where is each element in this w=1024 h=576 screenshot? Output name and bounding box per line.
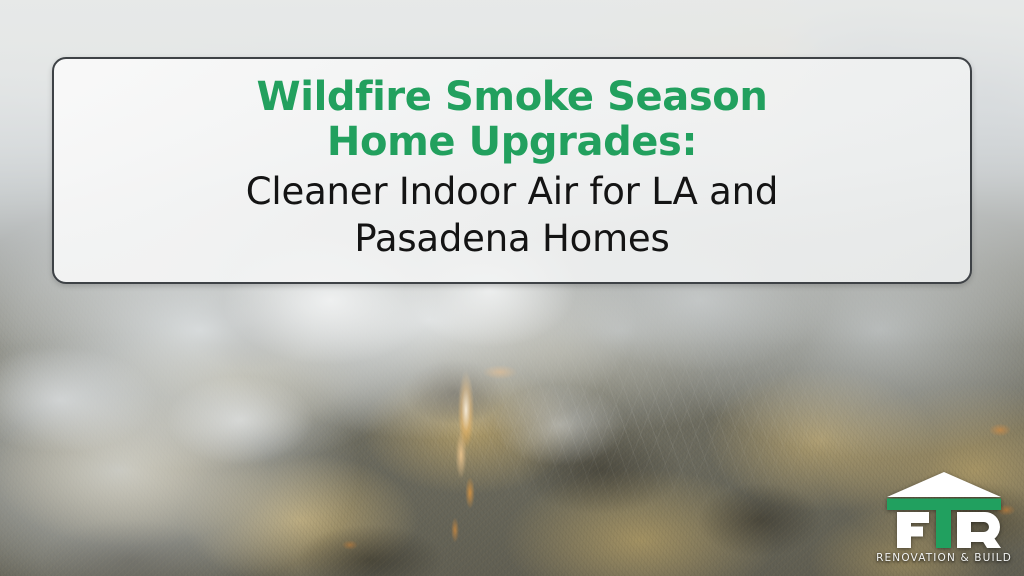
logo-letter-t-stem bbox=[936, 510, 951, 548]
page-subtitle-line-1: Cleaner Indoor Air for LA and bbox=[246, 169, 778, 215]
banner-image: Wildfire Smoke Season Home Upgrades: Cle… bbox=[0, 0, 1024, 576]
logo-tagline: RENOVATION & BUILD bbox=[876, 552, 1012, 564]
page-title: Wildfire Smoke Season Home Upgrades: bbox=[257, 75, 768, 165]
title-card: Wildfire Smoke Season Home Upgrades: Cle… bbox=[52, 57, 972, 284]
page-title-line-1: Wildfire Smoke Season bbox=[257, 75, 768, 120]
logo-crossbar bbox=[887, 499, 1001, 511]
logo-letter-r bbox=[957, 512, 1001, 548]
brand-logo: RENOVATION & BUILD bbox=[880, 469, 1008, 564]
logo-mark bbox=[885, 469, 1003, 551]
page-title-line-2: Home Upgrades: bbox=[257, 120, 768, 165]
house-roof-icon bbox=[887, 472, 1001, 497]
page-subtitle: Cleaner Indoor Air for LA and Pasadena H… bbox=[246, 169, 778, 262]
page-subtitle-line-2: Pasadena Homes bbox=[246, 216, 778, 262]
logo-letter-f bbox=[897, 512, 929, 548]
